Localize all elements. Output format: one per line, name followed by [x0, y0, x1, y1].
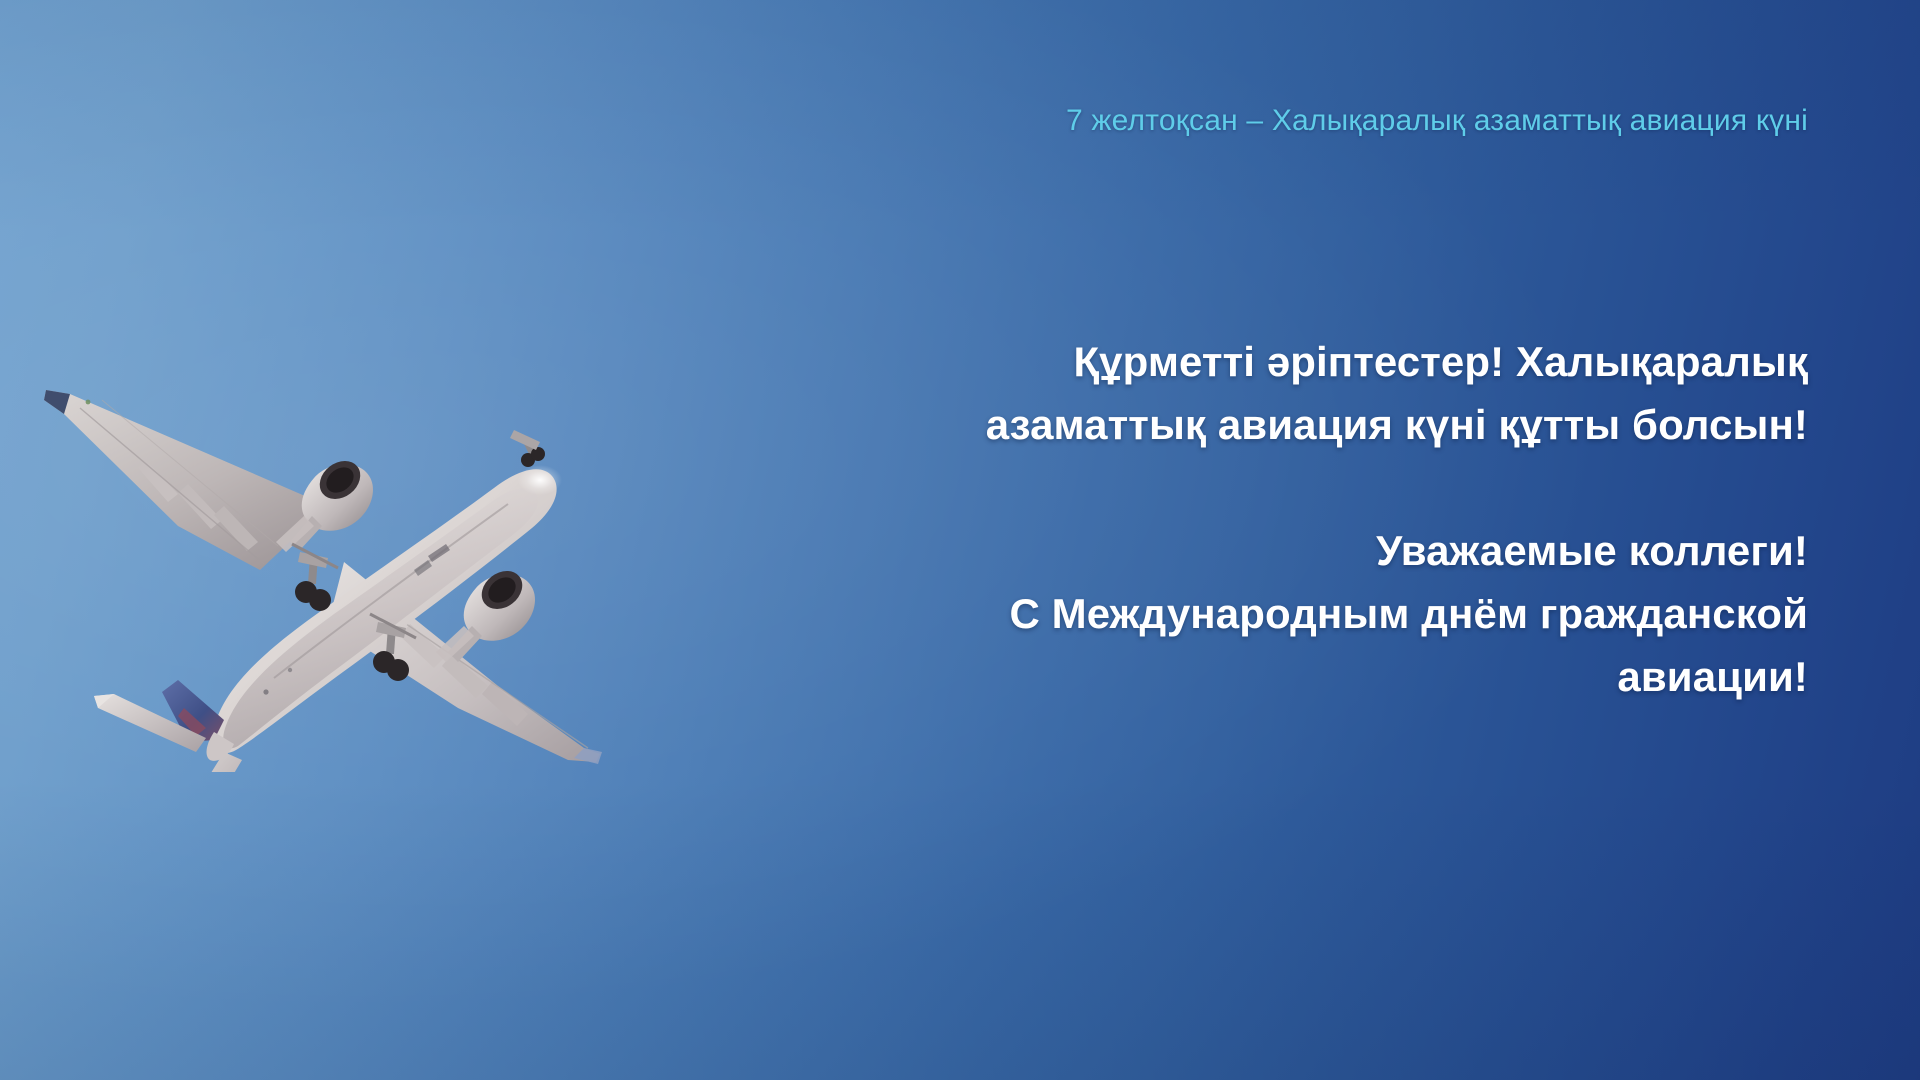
greeting-ru-line-3: авиации! — [808, 645, 1808, 708]
greeting-ru-line-1: Уважаемые коллеги! — [808, 519, 1808, 582]
occasion-header: 7 желтоқсан – Халықаралық азаматтық авиа… — [0, 104, 1920, 138]
greeting-kk-line-2: азаматтық авиация күні құтты болсын! — [808, 393, 1808, 456]
greeting-paragraph-spacer — [808, 456, 1808, 519]
greeting-slide: 7 желтоқсан – Халықаралық азаматтық авиа… — [0, 0, 1920, 1080]
greeting-ru-line-2: С Международным днём гражданской — [808, 582, 1808, 645]
greeting-message: Құрметті әріптестер! Халықаралық азаматт… — [808, 330, 1808, 708]
greeting-kk-line-1: Құрметті әріптестер! Халықаралық — [808, 330, 1808, 393]
